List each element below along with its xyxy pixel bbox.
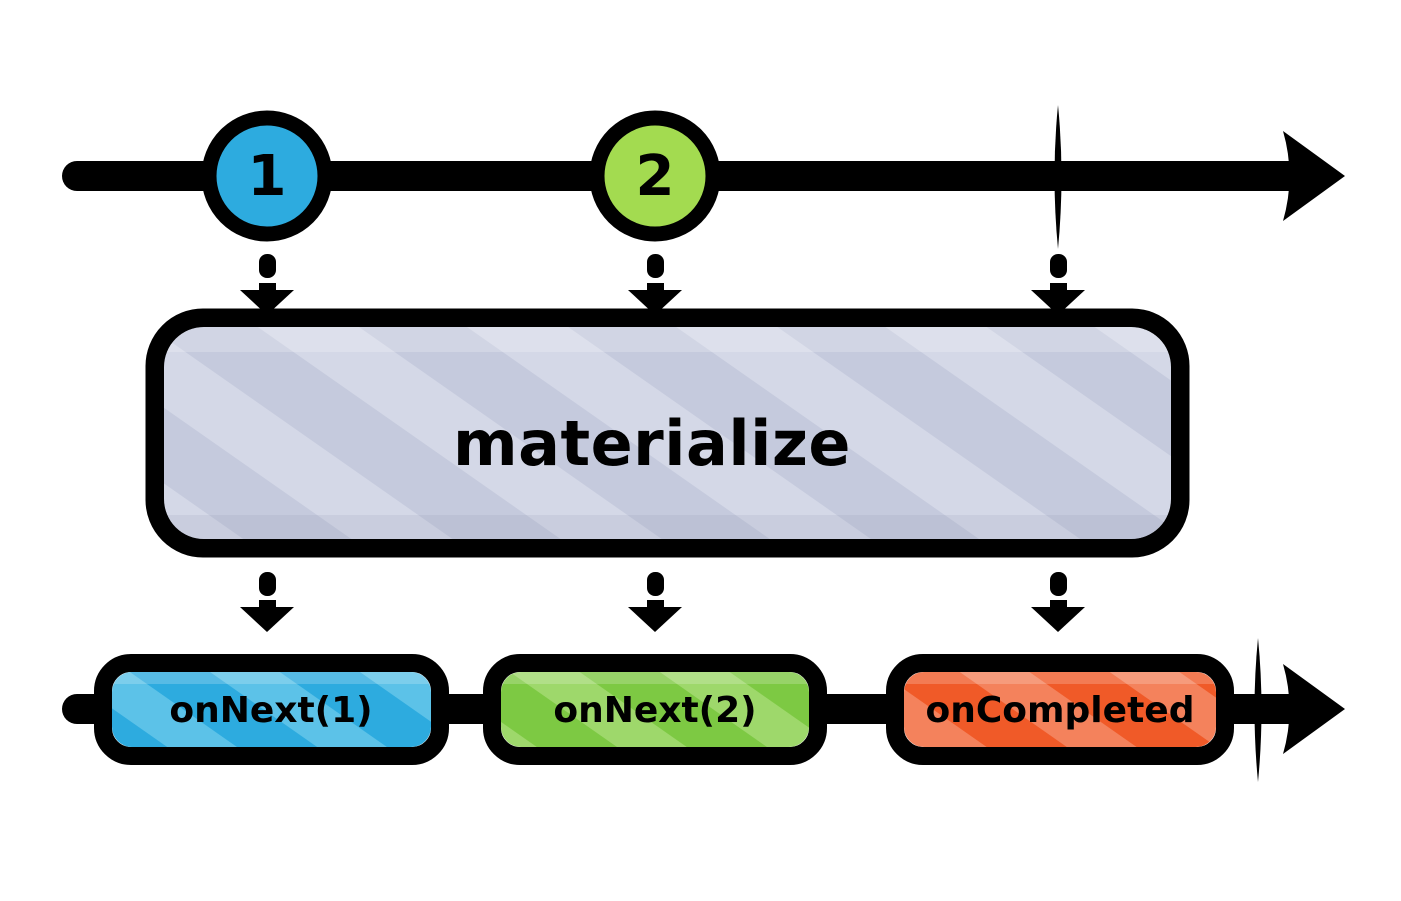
- arrow-in-3: [1031, 254, 1085, 315]
- source-completion-tick: [1055, 105, 1062, 249]
- notification-label: onNext(1): [169, 690, 372, 731]
- arrow-in-1: [240, 254, 294, 315]
- arrow-out-2: [628, 572, 682, 632]
- notification-onnext-2[interactable]: onNext(2): [492, 663, 818, 756]
- source-timeline: 1 2: [77, 105, 1345, 249]
- source-axis-arrowhead: [1283, 131, 1345, 221]
- notification-label: onNext(2): [553, 690, 756, 731]
- notification-label: onCompleted: [926, 690, 1195, 731]
- marble-value-label: 2: [636, 144, 675, 209]
- operator-box[interactable]: materialize: [155, 318, 1180, 548]
- arrow-out-3: [1031, 572, 1085, 632]
- arrows-into-operator: [240, 254, 1085, 315]
- marble-diagram-canvas: 1 2: [0, 0, 1401, 901]
- notification-onnext-1[interactable]: onNext(1): [103, 663, 440, 756]
- result-timeline: onNext(1) onNext(2) onCompleted: [77, 638, 1345, 782]
- operator-name-label: materialize: [453, 407, 851, 480]
- marble-value-label: 1: [248, 144, 287, 209]
- notification-gloss: [501, 672, 809, 684]
- notification-oncompleted[interactable]: onCompleted: [895, 663, 1225, 756]
- result-axis-arrowhead: [1283, 664, 1345, 754]
- notification-gloss: [112, 672, 431, 684]
- source-marble-1[interactable]: 1: [209, 118, 325, 234]
- arrow-out-1: [240, 572, 294, 632]
- arrow-in-2: [628, 254, 682, 315]
- source-marble-2[interactable]: 2: [597, 118, 713, 234]
- arrows-out-of-operator: [240, 572, 1085, 632]
- result-completion-tick: [1255, 638, 1262, 782]
- notification-gloss: [904, 672, 1216, 684]
- marble-diagram-svg: 1 2: [0, 0, 1401, 901]
